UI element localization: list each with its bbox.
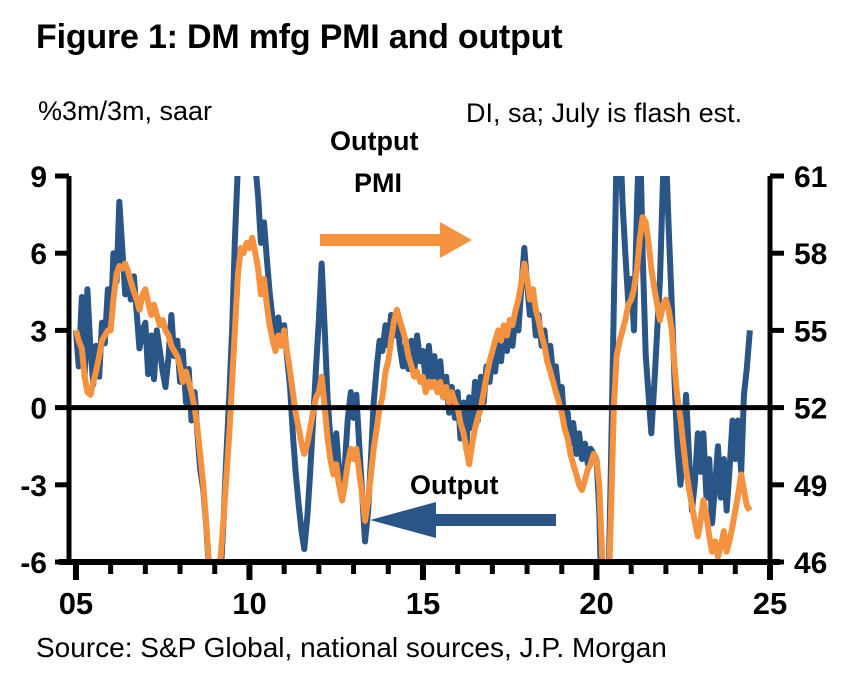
right-axis-unit-label: DI, sa; July is flash est. — [466, 98, 742, 129]
y-tick-label-right-5: 46 — [794, 547, 827, 580]
figure-container: Figure 1: DM mfg PMI and output %3m/3m, … — [0, 0, 852, 689]
y-tick-label-right-3: 52 — [794, 393, 827, 426]
left-axis-unit-label: %3m/3m, saar — [38, 96, 212, 127]
y-tick-label-left-2: 3 — [30, 315, 47, 348]
source-note: Source: S&P Global, national sources, J.… — [36, 632, 667, 664]
page-title: Figure 1: DM mfg PMI and output — [36, 18, 562, 57]
x-tick-label-3: 20 — [579, 586, 613, 621]
x-tick-label-1: 10 — [232, 586, 266, 621]
annotation-pmi-line2: PMI — [354, 168, 402, 199]
y-tick-label-left-5: -6 — [20, 547, 47, 580]
y-tick-label-right-2: 55 — [794, 315, 827, 348]
y-tick-label-left-4: -3 — [20, 470, 47, 503]
y-tick-label-right-4: 49 — [794, 470, 827, 503]
x-tick-label-0: 05 — [59, 586, 93, 621]
y-tick-label-left-1: 6 — [30, 238, 47, 271]
x-tick-label-4: 25 — [753, 586, 787, 621]
arrow-left-output — [370, 502, 556, 538]
y-tick-label-left-3: 0 — [30, 393, 47, 426]
y-tick-label-right-1: 58 — [794, 238, 827, 271]
y-tick-label-left-0: 9 — [30, 161, 47, 194]
y-tick-label-right-0: 61 — [794, 161, 827, 194]
annotation-pmi-line1: Output — [330, 126, 418, 157]
arrow-right-pmi — [320, 222, 472, 258]
annotation-output: Output — [410, 470, 498, 501]
x-tick-label-2: 15 — [406, 586, 440, 621]
